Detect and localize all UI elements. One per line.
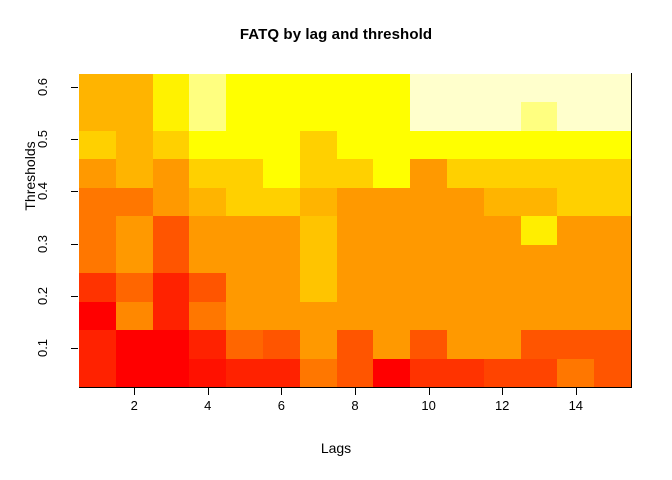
x-tick-label: 6 <box>261 398 301 414</box>
x-tick <box>208 388 209 395</box>
heatmap-cell <box>79 302 116 330</box>
heatmap-cell <box>300 216 337 244</box>
heatmap-cell <box>594 273 631 301</box>
heatmap-cell <box>410 330 447 358</box>
heatmap-cell <box>410 102 447 130</box>
heatmap-cell <box>263 330 300 358</box>
x-tick-label: 4 <box>188 398 228 414</box>
heatmap-cell <box>594 216 631 244</box>
heatmap-cell <box>79 102 116 130</box>
heatmap-cell <box>226 102 263 130</box>
heatmap-cell <box>484 102 521 130</box>
heatmap-cell <box>484 359 521 387</box>
heatmap-cell <box>410 302 447 330</box>
heatmap-cell <box>337 188 374 216</box>
heatmap-cell <box>337 74 374 102</box>
x-axis-title: Lags <box>0 440 672 456</box>
heatmap-cell <box>79 359 116 387</box>
heatmap-cell <box>263 359 300 387</box>
heatmap-cell <box>337 216 374 244</box>
heatmap-cell <box>557 273 594 301</box>
heatmap-cell <box>557 302 594 330</box>
heatmap-row <box>79 245 631 273</box>
heatmap-row <box>79 302 631 330</box>
heatmap-cell <box>557 159 594 187</box>
heatmap-cell <box>447 159 484 187</box>
x-tick <box>355 388 356 395</box>
x-tick <box>502 388 503 395</box>
heatmap-cell <box>521 131 558 159</box>
heatmap-cell <box>557 102 594 130</box>
heatmap-cell <box>263 188 300 216</box>
heatmap-cell <box>153 74 190 102</box>
x-tick <box>429 388 430 395</box>
heatmap-row <box>79 216 631 244</box>
heatmap-cell <box>373 330 410 358</box>
y-tick-label-text: 0.2 <box>36 287 50 305</box>
heatmap-cell <box>153 159 190 187</box>
heatmap-cell <box>484 131 521 159</box>
heatmap-cell <box>337 245 374 273</box>
heatmap-plot-area <box>79 74 631 387</box>
heatmap-cell <box>226 359 263 387</box>
heatmap-cell <box>189 216 226 244</box>
heatmap-cell <box>263 216 300 244</box>
heatmap-cell <box>300 273 337 301</box>
heatmap-cell <box>484 159 521 187</box>
heatmap-cell <box>484 216 521 244</box>
heatmap-cell <box>263 74 300 102</box>
heatmap-cell <box>189 330 226 358</box>
heatmap-cell <box>263 159 300 187</box>
heatmap-cell <box>410 273 447 301</box>
y-tick <box>71 296 78 297</box>
heatmap-cell <box>410 159 447 187</box>
heatmap-cell <box>116 159 153 187</box>
heatmap-cell <box>373 159 410 187</box>
heatmap-cell <box>594 159 631 187</box>
heatmap-cell <box>521 273 558 301</box>
y-tick <box>71 87 78 88</box>
heatmap-cell <box>300 159 337 187</box>
heatmap-cell <box>300 131 337 159</box>
heatmap-cell <box>410 188 447 216</box>
heatmap-cell <box>410 216 447 244</box>
heatmap-cell <box>189 273 226 301</box>
heatmap-cell <box>337 102 374 130</box>
heatmap-cell <box>373 74 410 102</box>
heatmap-cell <box>79 330 116 358</box>
x-tick <box>281 388 282 395</box>
heatmap-cell <box>484 302 521 330</box>
x-tick <box>134 388 135 395</box>
heatmap-cell <box>263 273 300 301</box>
heatmap-cell <box>447 330 484 358</box>
heatmap-cell <box>447 302 484 330</box>
heatmap-cell <box>116 216 153 244</box>
heatmap-cell <box>226 245 263 273</box>
heatmap-cell <box>263 302 300 330</box>
heatmap-cell <box>594 245 631 273</box>
y-tick <box>71 244 78 245</box>
heatmap-row <box>79 159 631 187</box>
chart-title: FATQ by lag and threshold <box>0 26 672 43</box>
heatmap-cell <box>189 74 226 102</box>
y-tick <box>71 191 78 192</box>
chart-canvas: FATQ by lag and threshold 2468101214 0.6… <box>0 0 672 480</box>
heatmap-cell <box>300 74 337 102</box>
heatmap-cell <box>300 302 337 330</box>
heatmap-cell <box>410 245 447 273</box>
heatmap-cell <box>300 102 337 130</box>
heatmap-cell <box>337 330 374 358</box>
heatmap-cell <box>263 131 300 159</box>
heatmap-cell <box>373 273 410 301</box>
heatmap-cell <box>557 359 594 387</box>
y-tick-label-text: 0.4 <box>36 182 50 200</box>
heatmap-cell <box>484 245 521 273</box>
heatmap-cell <box>521 302 558 330</box>
heatmap-cell <box>594 359 631 387</box>
heatmap-cell <box>447 359 484 387</box>
heatmap-cell <box>521 188 558 216</box>
heatmap-cell <box>594 131 631 159</box>
heatmap-cell <box>153 102 190 130</box>
heatmap-cell <box>153 188 190 216</box>
heatmap-cell <box>116 302 153 330</box>
heatmap-cell <box>337 273 374 301</box>
heatmap-row <box>79 102 631 130</box>
right-axis-line <box>631 73 632 388</box>
heatmap-cell <box>153 359 190 387</box>
heatmap-cell <box>226 302 263 330</box>
heatmap-cell <box>557 131 594 159</box>
y-axis-title: Thresholds <box>22 46 38 306</box>
heatmap-cell <box>373 216 410 244</box>
heatmap-cell <box>116 74 153 102</box>
heatmap-row <box>79 74 631 102</box>
heatmap-cell <box>300 188 337 216</box>
heatmap-cell <box>337 159 374 187</box>
heatmap-row <box>79 330 631 358</box>
heatmap-cell <box>79 74 116 102</box>
heatmap-cell <box>226 273 263 301</box>
heatmap-cell <box>557 188 594 216</box>
heatmap-cell <box>410 131 447 159</box>
heatmap-cell <box>153 131 190 159</box>
y-tick-label-text: 0.3 <box>36 234 50 252</box>
heatmap-cell <box>226 216 263 244</box>
heatmap-cell <box>300 330 337 358</box>
heatmap-cell <box>116 131 153 159</box>
heatmap-cell <box>189 102 226 130</box>
heatmap-cell <box>410 74 447 102</box>
heatmap-cell <box>263 102 300 130</box>
heatmap-row <box>79 188 631 216</box>
heatmap-cell <box>189 159 226 187</box>
heatmap-cell <box>116 359 153 387</box>
heatmap-cell <box>557 74 594 102</box>
heatmap-cell <box>557 216 594 244</box>
heatmap-cell <box>410 359 447 387</box>
heatmap-cell <box>594 102 631 130</box>
y-tick <box>71 348 78 349</box>
heatmap-cell <box>521 245 558 273</box>
heatmap-row <box>79 359 631 387</box>
heatmap-cell <box>189 188 226 216</box>
x-tick-label: 10 <box>409 398 449 414</box>
heatmap-cell <box>79 159 116 187</box>
heatmap-cell <box>373 102 410 130</box>
heatmap-cell <box>521 330 558 358</box>
heatmap-cell <box>337 131 374 159</box>
heatmap-cell <box>116 245 153 273</box>
heatmap-cell <box>521 216 558 244</box>
heatmap-row <box>79 273 631 301</box>
heatmap-cell <box>373 359 410 387</box>
heatmap-cell <box>79 273 116 301</box>
heatmap-cell <box>79 188 116 216</box>
heatmap-cell <box>447 188 484 216</box>
heatmap-cell <box>373 131 410 159</box>
y-tick-label: 0.1 <box>0 341 52 355</box>
heatmap-cell <box>447 131 484 159</box>
heatmap-cell <box>337 302 374 330</box>
y-tick-label-text: 0.5 <box>36 130 50 148</box>
heatmap-cell <box>484 74 521 102</box>
heatmap-cell <box>594 302 631 330</box>
heatmap-cell <box>226 188 263 216</box>
heatmap-cell <box>521 74 558 102</box>
y-tick <box>71 139 78 140</box>
heatmap-cell <box>153 216 190 244</box>
x-tick-label: 14 <box>556 398 596 414</box>
heatmap-cell <box>447 216 484 244</box>
heatmap-cell <box>116 330 153 358</box>
heatmap-cell <box>226 74 263 102</box>
heatmap-cell <box>263 245 300 273</box>
heatmap-cell <box>116 273 153 301</box>
heatmap-cell <box>226 330 263 358</box>
heatmap-cell <box>189 302 226 330</box>
heatmap-cell <box>79 131 116 159</box>
heatmap-cell <box>226 159 263 187</box>
heatmap-cell <box>116 188 153 216</box>
heatmap-cell <box>373 188 410 216</box>
heatmap-cell <box>373 245 410 273</box>
heatmap-cell <box>116 102 153 130</box>
heatmap-cell <box>557 245 594 273</box>
heatmap-cell <box>300 359 337 387</box>
heatmap-cell <box>189 245 226 273</box>
heatmap-cell <box>337 359 374 387</box>
heatmap-cell <box>447 245 484 273</box>
heatmap-cell <box>79 216 116 244</box>
heatmap-cell <box>300 245 337 273</box>
heatmap-cell <box>594 188 631 216</box>
heatmap-cell <box>79 245 116 273</box>
heatmap-cell <box>447 273 484 301</box>
heatmap-cell <box>557 330 594 358</box>
x-tick-label: 12 <box>482 398 522 414</box>
heatmap-cell <box>189 359 226 387</box>
heatmap-cell <box>373 302 410 330</box>
heatmap-cell <box>521 159 558 187</box>
heatmap-cell <box>153 245 190 273</box>
y-tick-label-text: 0.1 <box>36 339 50 357</box>
heatmap-cell <box>447 102 484 130</box>
heatmap-row <box>79 131 631 159</box>
heatmap-cell <box>594 330 631 358</box>
heatmap-cell <box>484 188 521 216</box>
heatmap-cell <box>594 74 631 102</box>
x-tick-label: 8 <box>335 398 375 414</box>
heatmap-cell <box>521 102 558 130</box>
x-tick-label: 2 <box>114 398 154 414</box>
heatmap-cell <box>521 359 558 387</box>
heatmap-cell <box>484 273 521 301</box>
heatmap-cell <box>153 273 190 301</box>
heatmap-cell <box>189 131 226 159</box>
heatmap-cell <box>447 74 484 102</box>
y-tick-label-text: 0.6 <box>36 78 50 96</box>
heatmap-cell <box>226 131 263 159</box>
heatmap-cell <box>484 330 521 358</box>
heatmap-cell <box>153 302 190 330</box>
x-tick <box>576 388 577 395</box>
heatmap-cell <box>153 330 190 358</box>
